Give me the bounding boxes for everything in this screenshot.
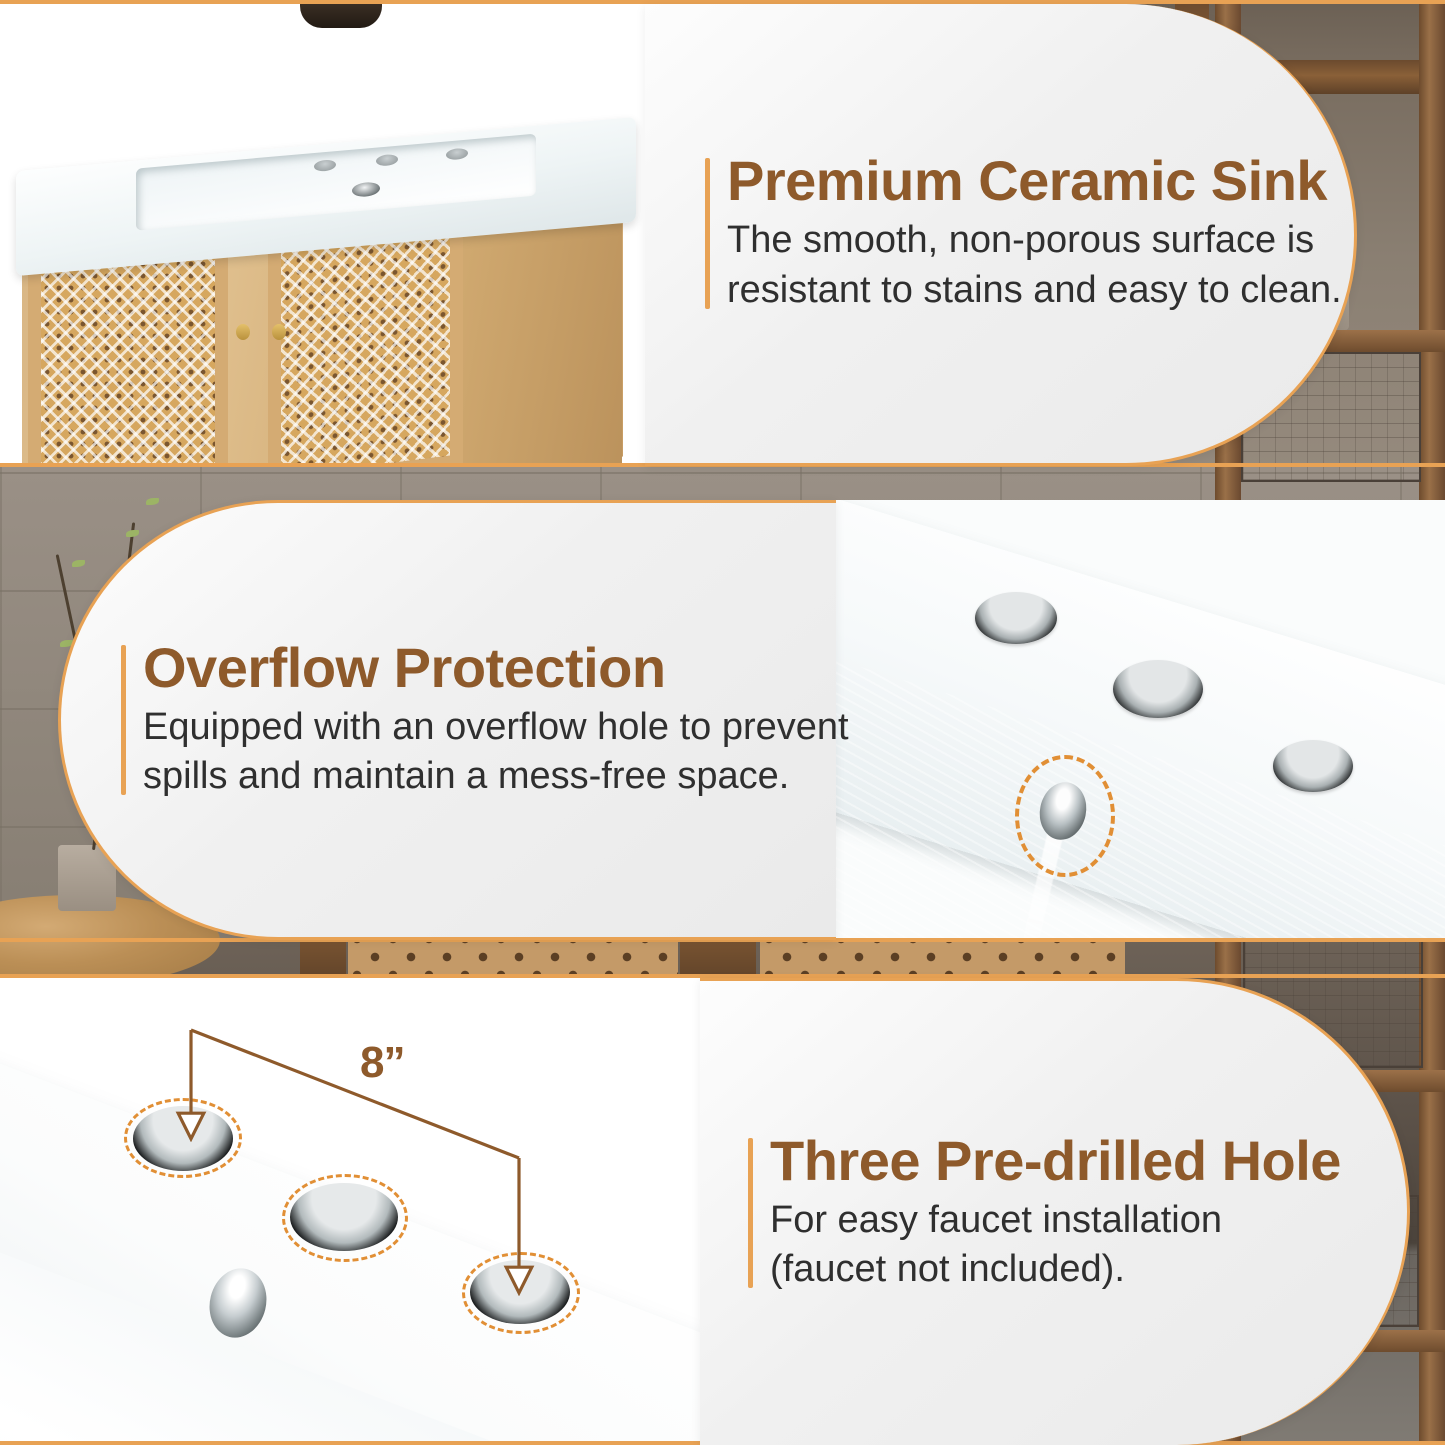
accent-bar (705, 158, 710, 309)
feature-panel-three-pre-drilled-hole: Three Pre-drilled Hole For easy faucet i… (700, 978, 1410, 1445)
tap-hole-icon (1113, 660, 1203, 718)
tap-hole-icon (975, 592, 1057, 644)
feature-description: The smooth, non-porous surface is resist… (727, 216, 1342, 315)
feature-text-block: Three Pre-drilled Hole For easy faucet i… (748, 1132, 1341, 1295)
sink-basin (136, 134, 536, 231)
cabinet-knob (272, 324, 286, 340)
feature-description-line: The smooth, non-porous surface is (727, 216, 1342, 265)
overflow-highlight-circle (1015, 755, 1115, 877)
tap-hole-icon (1273, 740, 1353, 792)
feature-description-line: For easy faucet installation (770, 1196, 1341, 1245)
feature-text-block: Overflow Protection Equipped with an ove… (121, 639, 849, 802)
feature-description-line: (faucet not included). (770, 1245, 1341, 1294)
feature-panel-overflow-protection: Overflow Protection Equipped with an ove… (58, 500, 836, 940)
infographic-canvas: Premium Ceramic Sink The smooth, non-por… (0, 0, 1445, 1445)
feature-title: Three Pre-drilled Hole (770, 1132, 1341, 1189)
feature-description-line: spills and maintain a mess-free space. (143, 752, 849, 801)
overflow-photo (835, 500, 1445, 940)
accent-bar (121, 645, 126, 796)
feature-description: Equipped with an overflow hole to preven… (143, 703, 849, 802)
vanity-photo (0, 4, 648, 466)
dimension-label: 8” (360, 1038, 404, 1088)
feature-description-line: Equipped with an overflow hole to preven… (143, 703, 849, 752)
feature-title: Premium Ceramic Sink (727, 152, 1342, 209)
feature-title: Overflow Protection (143, 639, 849, 696)
predrilled-holes-photo: 8” (0, 978, 740, 1445)
feature-panel-premium-ceramic-sink: Premium Ceramic Sink The smooth, non-por… (645, 4, 1357, 466)
ceiling-lamp-icon (300, 4, 382, 28)
feature-description-line: resistant to stains and easy to clean. (727, 266, 1342, 315)
cabinet-knob (236, 324, 250, 340)
feature-description: For easy faucet installation (faucet not… (770, 1196, 1341, 1295)
accent-bar (748, 1138, 753, 1289)
feature-text-block: Premium Ceramic Sink The smooth, non-por… (705, 152, 1342, 315)
